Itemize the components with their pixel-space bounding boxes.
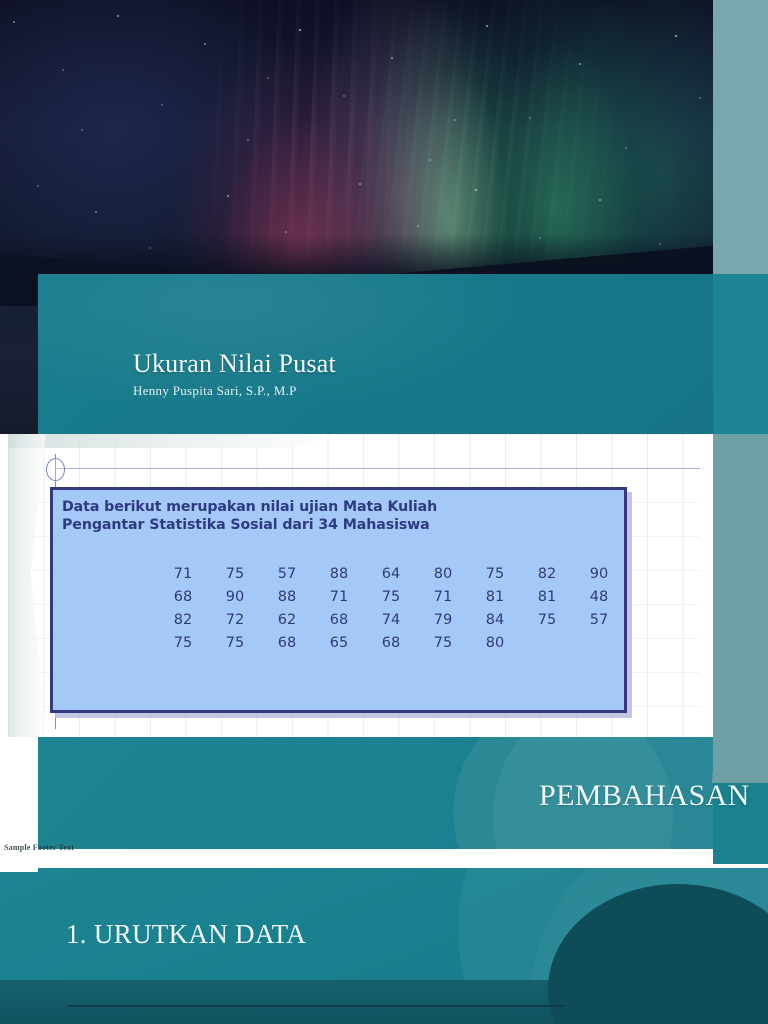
data-cell: 80 xyxy=(469,635,521,651)
data-cell: 90 xyxy=(573,566,625,582)
step-top-white-notch xyxy=(0,868,38,872)
data-cell: 62 xyxy=(261,612,313,628)
right-sage-panel xyxy=(713,434,768,783)
data-cell: 90 xyxy=(209,589,261,605)
data-cell: 71 xyxy=(157,566,209,582)
binder-ring-icon xyxy=(46,458,65,481)
data-cell: 64 xyxy=(365,566,417,582)
data-cell: 68 xyxy=(157,589,209,605)
page-title: Ukuran Nilai Pusat xyxy=(133,349,336,379)
data-cell: 84 xyxy=(469,612,521,628)
title-right-teal-block xyxy=(713,274,768,434)
slide-footer-text: Sample Footer Text xyxy=(4,843,74,852)
data-cell: 75 xyxy=(157,635,209,651)
data-cell: 75 xyxy=(521,612,573,628)
data-row: 68 90 88 71 75 71 81 81 48 xyxy=(157,585,627,608)
data-cell: 68 xyxy=(365,635,417,651)
data-cell: 75 xyxy=(417,635,469,651)
data-cell: 68 xyxy=(313,612,365,628)
data-cell: 75 xyxy=(209,566,261,582)
step-underline-rule xyxy=(68,1005,565,1007)
paper-fold-shadow xyxy=(8,434,338,448)
data-cell: 75 xyxy=(469,566,521,582)
data-callout-box: Data berikut merupakan nilai ujian Mata … xyxy=(50,487,627,713)
data-cell: 82 xyxy=(521,566,573,582)
data-cell: 68 xyxy=(261,635,313,651)
data-cell: 65 xyxy=(313,635,365,651)
slide-title: Ukuran Nilai Pusat Henny Puspita Sari, S… xyxy=(0,0,768,434)
data-cell: 72 xyxy=(209,612,261,628)
data-cell: 80 xyxy=(417,566,469,582)
notebook-header-rule xyxy=(55,468,700,469)
data-cell: 81 xyxy=(521,589,573,605)
data-cell: 74 xyxy=(365,612,417,628)
data-cell: 48 xyxy=(573,589,625,605)
data-cell: 57 xyxy=(573,612,625,628)
data-callout-heading-line-1: Data berikut merupakan nilai ujian Mata … xyxy=(62,498,618,516)
data-row: 71 75 57 88 64 80 75 82 90 xyxy=(157,562,627,585)
data-row: 75 75 68 65 68 75 80 xyxy=(157,631,627,654)
data-cell: 82 xyxy=(157,612,209,628)
data-cell: 81 xyxy=(469,589,521,605)
data-callout-heading-line-2: Pengantar Statistika Sosial dari 34 Maha… xyxy=(62,516,618,534)
section-label: PEMBAHASAN xyxy=(539,779,750,813)
data-cell: 88 xyxy=(313,566,365,582)
presentation-page: Ukuran Nilai Pusat Henny Puspita Sari, S… xyxy=(0,0,768,1024)
data-cell: 75 xyxy=(365,589,417,605)
data-cell: 75 xyxy=(209,635,261,651)
data-cell: 79 xyxy=(417,612,469,628)
data-row: 82 72 62 68 74 79 84 75 57 xyxy=(157,608,627,631)
right-sage-strip xyxy=(713,0,768,274)
data-cell: 71 xyxy=(313,589,365,605)
data-cell: 57 xyxy=(261,566,313,582)
step-title: 1. URUTKAN DATA xyxy=(66,919,306,950)
data-callout-heading: Data berikut merupakan nilai ujian Mata … xyxy=(62,498,618,534)
data-value-grid: 71 75 57 88 64 80 75 82 90 68 90 88 71 7… xyxy=(157,562,627,654)
data-cell: 88 xyxy=(261,589,313,605)
data-cell: 71 xyxy=(417,589,469,605)
page-subtitle: Henny Puspita Sari, S.P., M.P xyxy=(133,383,297,399)
